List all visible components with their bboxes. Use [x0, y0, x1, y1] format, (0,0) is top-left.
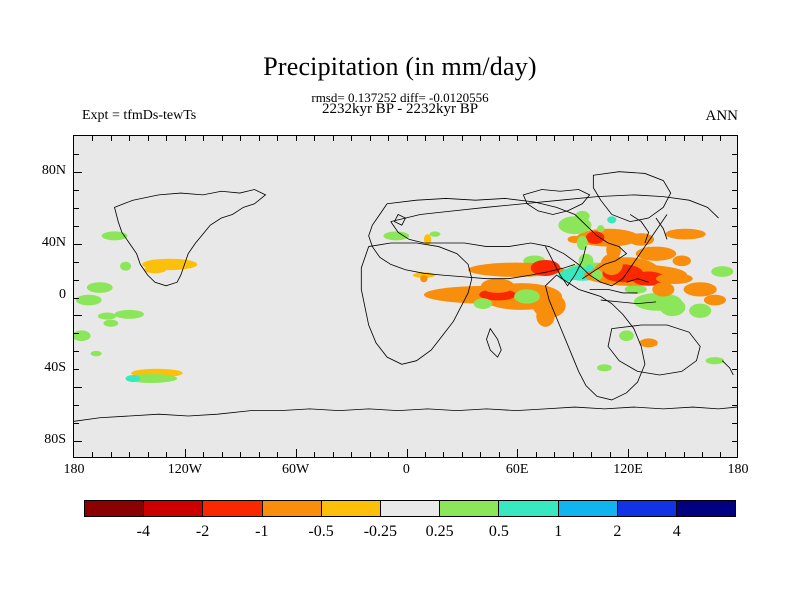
tick-y-left: [74, 298, 79, 299]
tick-x-top: [480, 136, 481, 141]
tick-x-bottom-major: [628, 449, 629, 457]
tick-x-bottom: [277, 452, 278, 457]
tick-x-bottom: [148, 452, 149, 457]
tick-y-right: [732, 351, 737, 352]
tick-y-right: [732, 333, 737, 334]
colorbar-tick-label: 0.25: [426, 523, 454, 541]
tick-x-bottom: [443, 452, 444, 457]
colorbar-tick-label: -4: [137, 523, 150, 541]
tick-y-left-major: [74, 172, 82, 173]
tick-x-top: [665, 136, 666, 141]
tick-x-bottom: [111, 452, 112, 457]
colorbar: [84, 500, 736, 517]
tick-x-bottom-major: [517, 449, 518, 457]
colorbar-segment: [380, 501, 439, 516]
figure-canvas: Precipitation (in mm/day) rmsd= 0.137252…: [0, 0, 800, 600]
tick-x-top: [111, 136, 112, 141]
tick-x-bottom: [425, 452, 426, 457]
axis-label-x-2: 60W: [282, 462, 309, 478]
tick-x-top: [129, 136, 130, 141]
tick-x-bottom-major: [185, 449, 186, 457]
tick-x-bottom: [480, 452, 481, 457]
tick-x-top: [536, 136, 537, 141]
tick-y-right: [732, 262, 737, 263]
tick-y-left: [74, 423, 79, 424]
colorbar-segment: [676, 501, 735, 516]
tick-y-left-major: [74, 441, 82, 442]
tick-x-bottom: [702, 452, 703, 457]
axis-label-x-0: 180: [64, 462, 85, 478]
axis-label-x-6: 180: [728, 462, 749, 478]
tick-x-top: [296, 136, 297, 141]
tick-x-bottom: [720, 452, 721, 457]
colorbar-segment: [498, 501, 557, 516]
tick-y-left: [74, 369, 79, 370]
colorbar-tick-label: -2: [196, 523, 209, 541]
tick-x-top: [388, 136, 389, 141]
tick-x-top: [647, 136, 648, 141]
tick-x-bottom: [314, 452, 315, 457]
tick-x-top: [407, 136, 408, 141]
tick-x-top: [702, 136, 703, 141]
tick-x-bottom: [554, 452, 555, 457]
tick-y-right: [732, 315, 737, 316]
tick-x-bottom: [591, 452, 592, 457]
tick-y-right: [732, 387, 737, 388]
tick-x-top: [240, 136, 241, 141]
tick-y-left: [74, 226, 79, 227]
tick-x-bottom: [129, 452, 130, 457]
tick-x-bottom: [462, 452, 463, 457]
colorbar-segment: [439, 501, 498, 516]
tick-x-bottom: [333, 452, 334, 457]
tick-x-top: [425, 136, 426, 141]
tick-x-top: [684, 136, 685, 141]
colorbar-segment: [558, 501, 617, 516]
colorbar-tick-label: -1: [255, 523, 268, 541]
colorbar-tick-label: 2: [613, 523, 621, 541]
tick-x-bottom: [222, 452, 223, 457]
colorbar-tick-label: 0.5: [489, 523, 509, 541]
tick-x-bottom: [573, 452, 574, 457]
tick-x-top: [462, 136, 463, 141]
tick-x-top: [628, 136, 629, 141]
tick-y-right: [732, 405, 737, 406]
tick-y-right: [732, 154, 737, 155]
tick-x-top: [92, 136, 93, 141]
tick-x-top: [277, 136, 278, 141]
season-label: ANN: [706, 108, 739, 125]
tick-y-left-major: [74, 244, 82, 245]
tick-y-left: [74, 262, 79, 263]
tick-x-top: [517, 136, 518, 141]
tick-x-top: [148, 136, 149, 141]
tick-y-left-major: [74, 315, 82, 316]
axis-label-x-3: 0: [403, 462, 410, 478]
colorbar-segment: [85, 501, 143, 516]
map-plot-area: [73, 135, 738, 458]
tick-x-bottom: [166, 452, 167, 457]
map-canvas: [74, 136, 737, 457]
tick-x-bottom: [684, 452, 685, 457]
page-title: Precipitation (in mm/day): [0, 52, 800, 82]
tick-y-left: [74, 208, 79, 209]
axis-label-y-1: 40N: [10, 235, 66, 251]
tick-y-right: [732, 441, 737, 442]
colorbar-segment: [143, 501, 202, 516]
axis-label-y-3: 40S: [10, 360, 66, 376]
anomaly-shading-layer: [74, 211, 733, 383]
tick-x-top: [333, 136, 334, 141]
tick-x-top: [591, 136, 592, 141]
tick-y-left: [74, 351, 79, 352]
tick-x-bottom: [203, 452, 204, 457]
tick-x-top: [610, 136, 611, 141]
tick-y-left: [74, 190, 79, 191]
tick-y-left: [74, 154, 79, 155]
colorbar-tick-label: 1: [554, 523, 562, 541]
tick-x-top: [573, 136, 574, 141]
coastline-layer: [74, 172, 737, 422]
tick-x-bottom-major: [407, 449, 408, 457]
colorbar-tick-label: 4: [673, 523, 681, 541]
tick-y-left: [74, 280, 79, 281]
tick-x-bottom: [499, 452, 500, 457]
tick-y-right: [732, 244, 737, 245]
tick-x-top: [222, 136, 223, 141]
tick-x-bottom: [647, 452, 648, 457]
tick-y-right: [732, 280, 737, 281]
tick-x-bottom: [388, 452, 389, 457]
axis-label-x-1: 120W: [168, 462, 202, 478]
tick-y-right: [732, 423, 737, 424]
tick-x-bottom: [610, 452, 611, 457]
experiment-label: Expt = tfmDs-tewTs: [82, 108, 196, 124]
colorbar-tick-label: -0.25: [364, 523, 397, 541]
axis-label-y-2: 0: [10, 287, 66, 303]
tick-x-bottom: [351, 452, 352, 457]
axis-label-x-5: 120E: [613, 462, 643, 478]
tick-x-top: [720, 136, 721, 141]
tick-x-top: [203, 136, 204, 141]
tick-x-bottom: [370, 452, 371, 457]
tick-y-right: [732, 226, 737, 227]
tick-x-bottom: [536, 452, 537, 457]
tick-x-top: [166, 136, 167, 141]
tick-y-left-major: [74, 387, 82, 388]
tick-x-top: [259, 136, 260, 141]
tick-x-top: [370, 136, 371, 141]
colorbar-segment: [262, 501, 321, 516]
tick-y-right: [732, 369, 737, 370]
tick-x-top: [185, 136, 186, 141]
tick-x-bottom: [92, 452, 93, 457]
tick-y-left: [74, 333, 79, 334]
tick-x-top: [554, 136, 555, 141]
tick-x-bottom: [665, 452, 666, 457]
colorbar-segment: [321, 501, 380, 516]
colorbar-tick-label: -0.5: [308, 523, 333, 541]
tick-y-left: [74, 405, 79, 406]
tick-y-right: [732, 298, 737, 299]
tick-x-top: [443, 136, 444, 141]
tick-x-top: [499, 136, 500, 141]
tick-y-right: [732, 208, 737, 209]
tick-x-bottom: [259, 452, 260, 457]
tick-x-top: [314, 136, 315, 141]
tick-x-bottom-major: [296, 449, 297, 457]
colorbar-segment: [617, 501, 676, 516]
axis-label-y-4: 80S: [10, 432, 66, 448]
colorbar-segment: [202, 501, 261, 516]
axis-label-y-0: 80N: [10, 163, 66, 179]
tick-x-bottom: [240, 452, 241, 457]
tick-x-top: [351, 136, 352, 141]
axis-label-x-4: 60E: [506, 462, 529, 478]
tick-y-right: [732, 172, 737, 173]
tick-y-right: [732, 190, 737, 191]
